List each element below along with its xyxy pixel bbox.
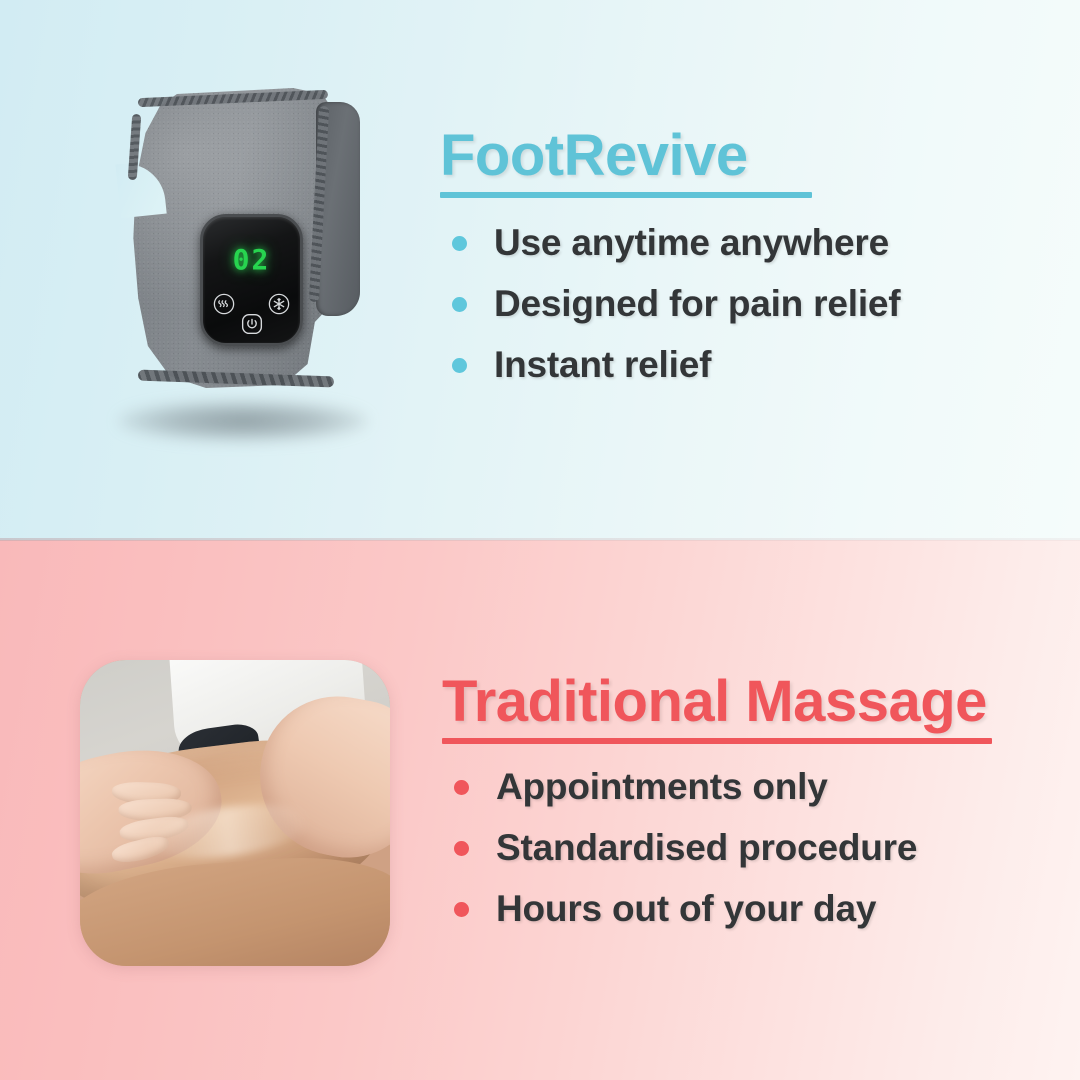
top-section: 02 [0, 0, 1080, 540]
bullet-dot-icon [452, 297, 467, 312]
snowflake-icon[interactable] [268, 293, 290, 320]
bullet-dot-icon [452, 236, 467, 251]
bottom-bullet-list: Appointments only Standardised procedure… [442, 766, 992, 930]
top-heading: FootRevive [440, 126, 900, 185]
top-copy-block: FootRevive Use anytime anywhere Designed… [440, 126, 900, 405]
bullet-dot-icon [452, 358, 467, 373]
bullet-label: Use anytime anywhere [494, 222, 889, 264]
section-divider [0, 538, 1080, 541]
bottom-section: Traditional Massage Appointments only St… [0, 540, 1080, 1080]
massage-photo [80, 660, 390, 966]
foot-wrap-device: 02 [114, 88, 356, 388]
bullet-label: Designed for pain relief [494, 283, 900, 325]
bullet-dot-icon [454, 841, 469, 856]
product-image: 02 [96, 82, 386, 462]
top-bullet-list: Use anytime anywhere Designed for pain r… [440, 222, 900, 386]
list-item: Appointments only [442, 766, 992, 808]
top-heading-underline [440, 192, 812, 198]
bottom-heading-underline [442, 738, 992, 744]
comparison-infographic: 02 [0, 0, 1080, 1080]
bottom-heading: Traditional Massage [442, 672, 992, 731]
bullet-label: Instant relief [494, 344, 711, 386]
control-panel[interactable]: 02 [200, 214, 303, 346]
bullet-label: Hours out of your day [496, 888, 876, 930]
list-item: Standardised procedure [442, 827, 992, 869]
list-item: Designed for pain relief [440, 283, 900, 325]
bullet-label: Appointments only [496, 766, 828, 808]
bullet-dot-icon [454, 902, 469, 917]
power-icon[interactable] [241, 313, 263, 340]
level-display: 02 [203, 243, 300, 276]
product-shadow [118, 400, 368, 442]
heat-icon[interactable] [213, 293, 235, 320]
bottom-copy-block: Traditional Massage Appointments only St… [442, 672, 992, 949]
list-item: Hours out of your day [442, 888, 992, 930]
control-button-row [203, 291, 300, 337]
bullet-label: Standardised procedure [496, 827, 917, 869]
bullet-dot-icon [454, 780, 469, 795]
list-item: Instant relief [440, 344, 900, 386]
list-item: Use anytime anywhere [440, 222, 900, 264]
